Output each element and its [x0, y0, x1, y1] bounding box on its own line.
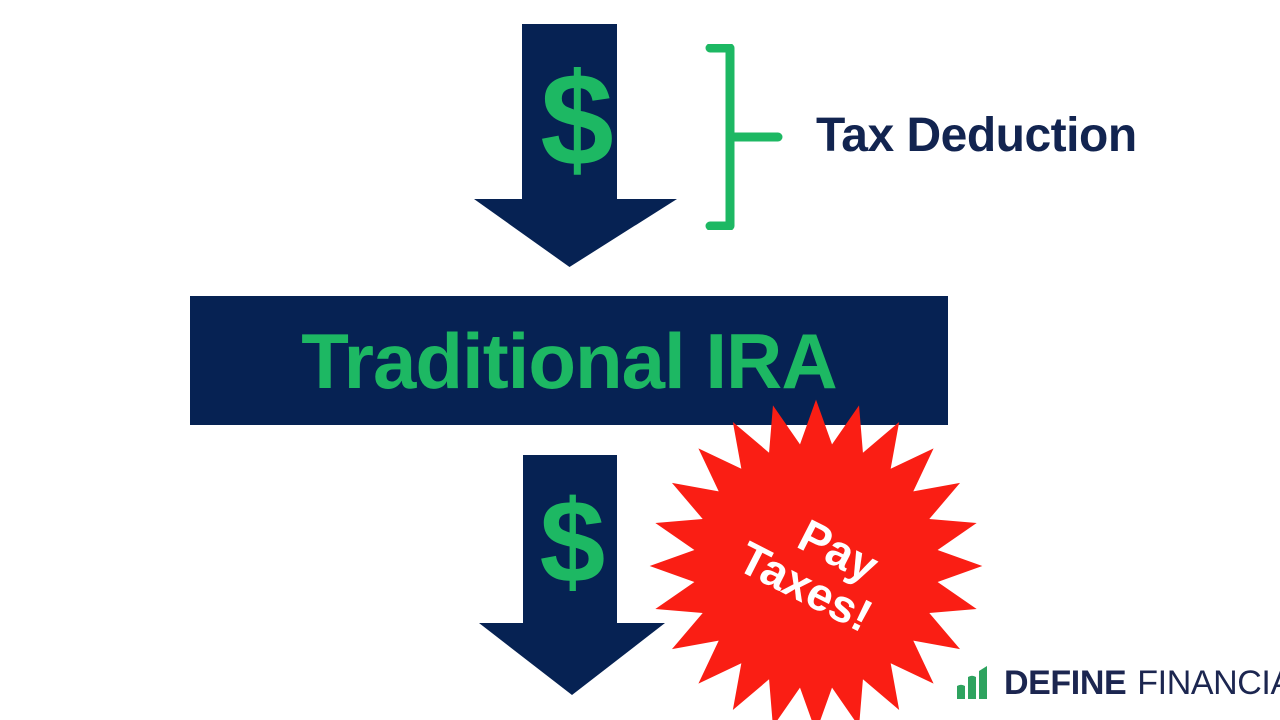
- slide-canvas: $ Tax Deduction Traditional IRA $ Pay Ta…: [0, 0, 1280, 720]
- tax-deduction-brace: [700, 44, 790, 230]
- contribution-arrow: $: [472, 24, 682, 269]
- right-curly-brace-icon: [700, 44, 790, 230]
- dollar-sign-icon: $: [475, 483, 670, 601]
- starburst-icon: [648, 398, 984, 720]
- bar-chart-logo-icon: [957, 666, 995, 700]
- tax-deduction-label: Tax Deduction: [816, 108, 1137, 163]
- brand-name-bold: DEFINE: [1004, 666, 1126, 700]
- distribution-arrow: $: [475, 455, 670, 700]
- define-financial-logo: DEFINE FINANCIAL: [957, 660, 1280, 706]
- pay-taxes-callout: Pay Taxes!: [648, 398, 984, 720]
- brand-name-light: FINANCIAL: [1137, 666, 1280, 700]
- dollar-sign-icon: $: [472, 54, 682, 186]
- traditional-ira-banner-label: Traditional IRA: [301, 322, 836, 400]
